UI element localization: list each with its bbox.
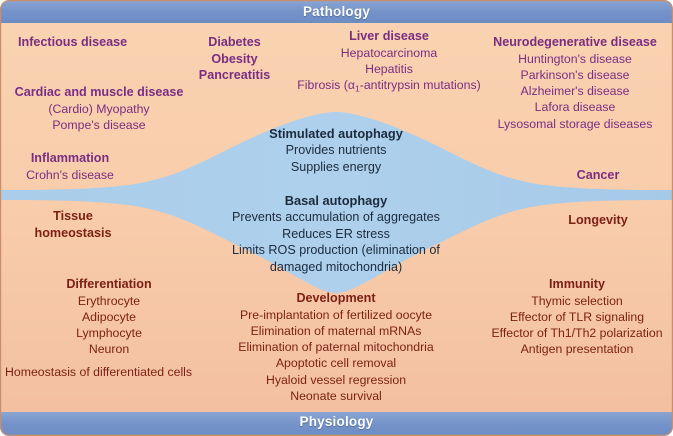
liver-fibrosis-line: Fibrosis (α1-antitrypsin mutations) [272,77,506,93]
fibrosis-prefix: Fibrosis (α [297,78,355,92]
cancer-heading: Cancer [533,167,663,184]
pathology-bar-label: Pathology [0,4,673,19]
infectious-disease-heading: Infectious disease [18,34,127,51]
immunity-item-3: Antigen presentation [483,341,671,357]
cardiac-item-0: (Cardio) Myopathy [6,101,192,117]
basal-item-0: Prevents accumulation of aggregates [166,209,506,226]
liver-disease-heading: Liver disease [272,28,506,45]
block-stimulated-autophagy: Stimulated autophagy Provides nutrients … [186,125,486,175]
development-item-0: Pre-implantation of fertilized oocyte [177,307,495,323]
neuro-item-2: Alzheimer's disease [480,83,670,99]
development-item-1: Elimination of maternal mRNAs [177,323,495,339]
liver-item-1: Hepatitis [272,61,506,77]
basal-item-2: Limits ROS production (elimination of [166,242,506,259]
tissue-homeostasis-heading-line2: homeostasis [8,225,138,242]
block-inflammation: Inflammation Crohn's disease [0,150,140,183]
differentiation-item-1: Adipocyte [33,309,185,325]
differentiation-heading: Differentiation [33,276,185,293]
neuro-item-0: Huntington's disease [480,51,670,67]
development-item-3: Apoptotic cell removal [177,355,495,371]
liver-item-0: Hepatocarcinoma [272,45,506,61]
longevity-heading: Longevity [533,212,663,229]
inflammation-heading: Inflammation [0,150,140,167]
cardiac-item-1: Pompe's disease [6,117,192,133]
block-longevity: Longevity [533,212,663,229]
inflammation-item-0: Crohn's disease [0,167,140,183]
immunity-item-2: Effector of Th1/Th2 polarization [483,325,671,341]
basal-autophagy-heading: Basal autophagy [166,192,506,209]
neuro-item-1: Parkinson's disease [480,67,670,83]
block-cardiac-muscle-disease: Cardiac and muscle disease (Cardio) Myop… [6,84,192,133]
block-basal-autophagy: Basal autophagy Prevents accumulation of… [166,192,506,275]
development-item-2: Elimination of paternal mitochondria [177,339,495,355]
basal-item-3: damaged mitochondria) [166,259,506,276]
block-liver-disease: Liver disease Hepatocarcinoma Hepatitis … [272,28,506,93]
immunity-item-0: Thymic selection [483,293,671,309]
development-item-4: Hyaloid vessel regression [177,372,495,388]
stimulated-item-1: Supplies energy [186,159,486,176]
autophagy-diagram: Pathology Physiology Infectious disease … [0,0,673,436]
block-cancer: Cancer [533,167,663,184]
neuro-item-4: Lysosomal storage diseases [480,116,670,132]
neurodegenerative-disease-heading: Neurodegenerative disease [480,34,670,51]
stimulated-autophagy-heading: Stimulated autophagy [186,125,486,142]
block-immunity: Immunity Thymic selection Effector of TL… [483,276,671,358]
block-differentiation: Differentiation Erythrocyte Adipocyte Ly… [33,276,185,358]
development-item-5: Neonate survival [177,388,495,404]
differentiation-item-3: Neuron [33,341,185,357]
block-neurodegenerative-disease: Neurodegenerative disease Huntington's d… [480,34,670,132]
block-tissue-homeostasis: Tissue homeostasis [8,208,138,241]
differentiation-item-0: Erythrocyte [33,293,185,309]
fibrosis-suffix: -antitrypsin mutations) [360,78,481,92]
immunity-heading: Immunity [483,276,671,293]
stimulated-item-0: Provides nutrients [186,142,486,159]
cardiac-muscle-disease-heading: Cardiac and muscle disease [6,84,192,101]
development-heading: Development [177,290,495,307]
block-infectious-disease: Infectious disease [18,34,127,51]
neuro-item-3: Lafora disease [480,99,670,115]
basal-item-1: Reduces ER stress [166,226,506,243]
physiology-bar-label: Physiology [0,414,673,429]
block-development: Development Pre-implantation of fertiliz… [177,290,495,404]
tissue-homeostasis-heading-line1: Tissue [8,208,138,225]
immunity-item-1: Effector of TLR signaling [483,309,671,325]
block-homeostasis-differentiated-cells: Homeostasis of differentiated cells [5,364,192,380]
differentiation-item-2: Lymphocyte [33,325,185,341]
homeostasis-differentiated-cells-text: Homeostasis of differentiated cells [5,364,192,380]
